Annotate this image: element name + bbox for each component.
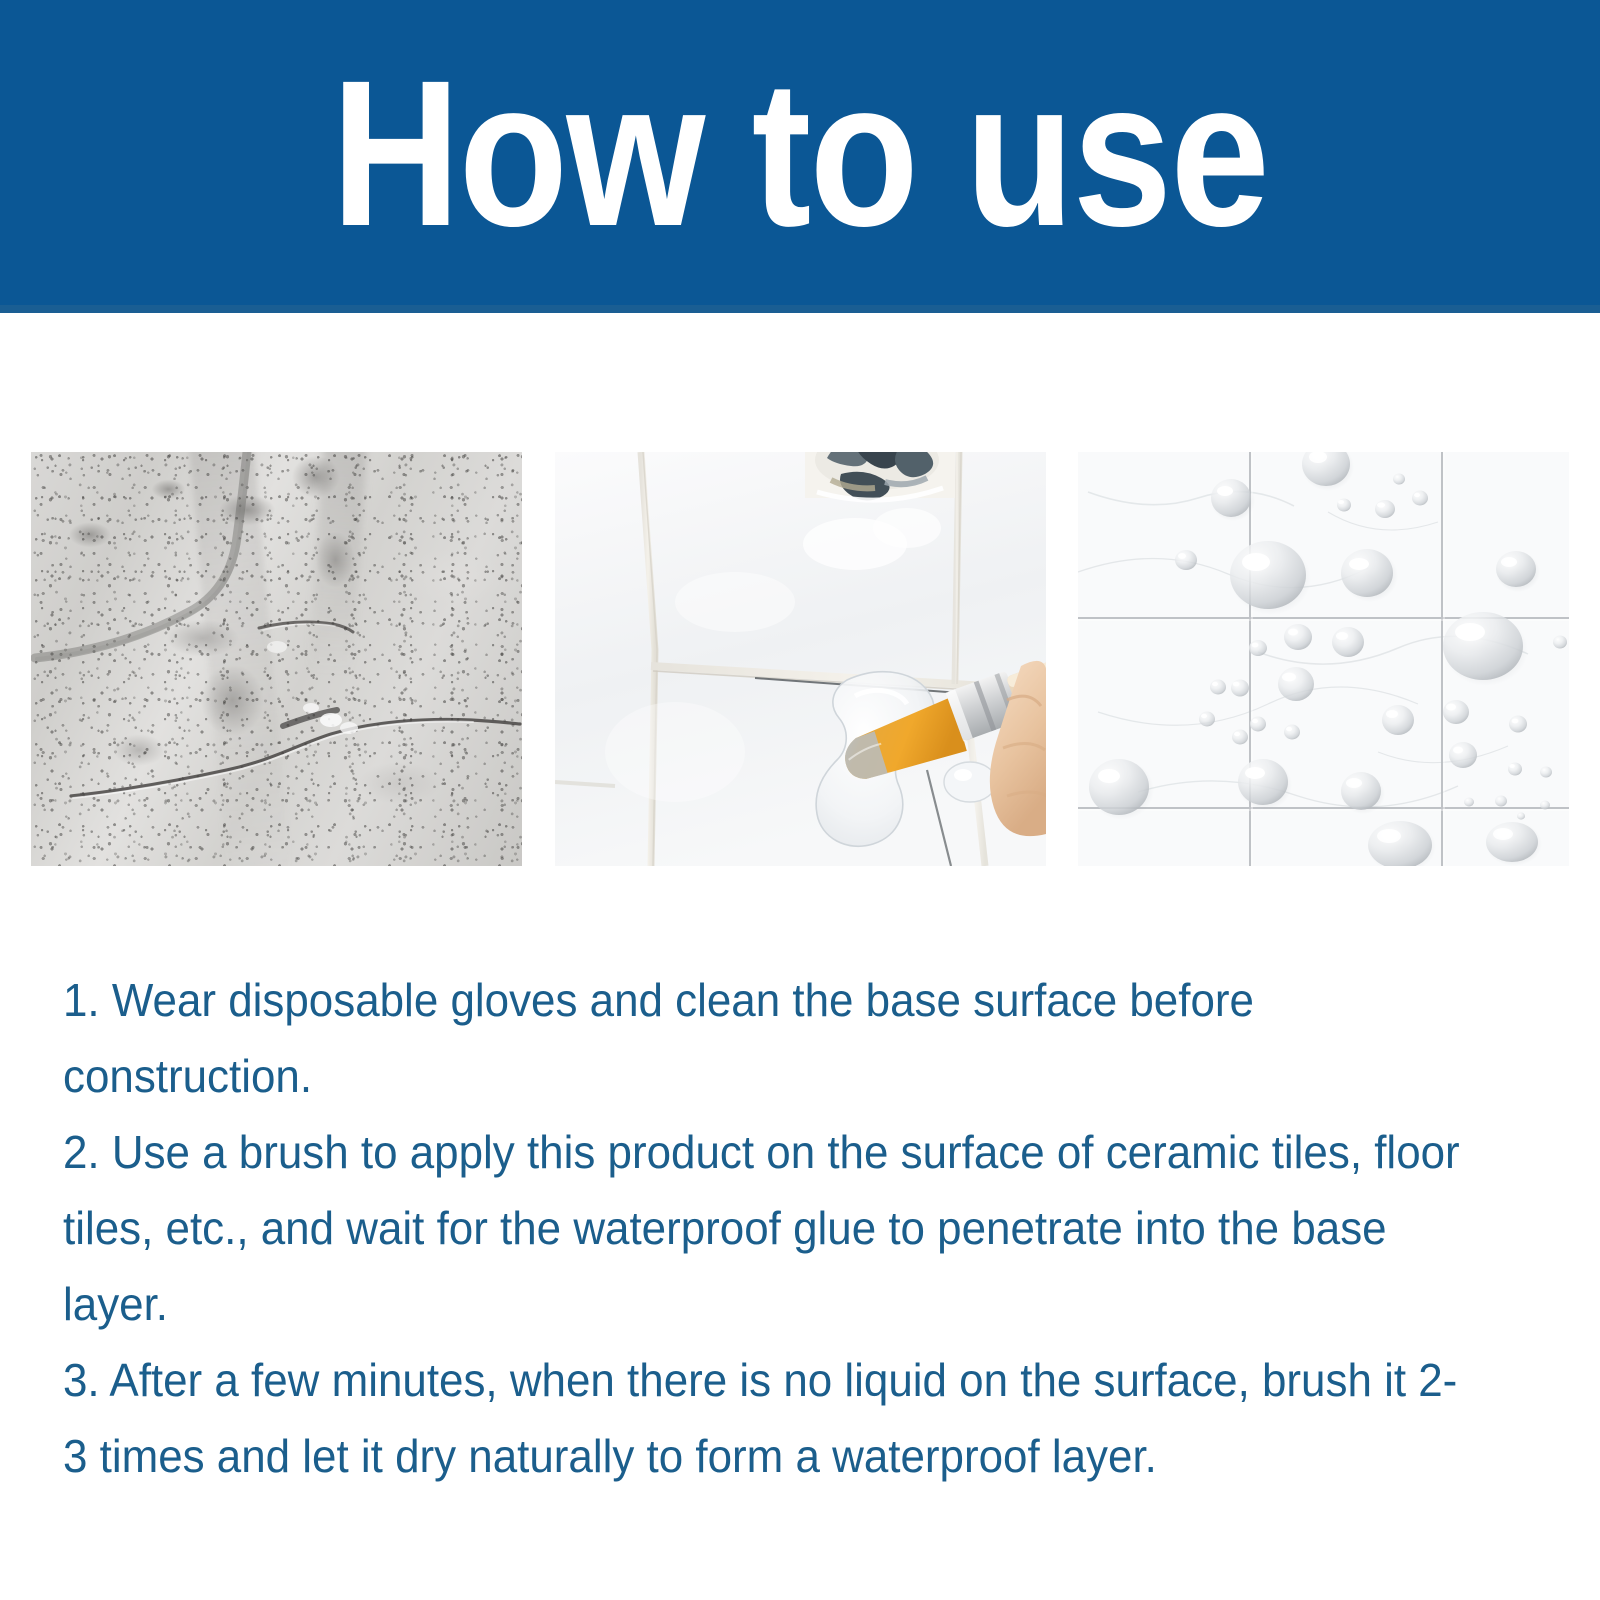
cracked-concrete-photo: [31, 452, 522, 866]
page-title: How to use: [332, 59, 1269, 250]
header-underline-divider: [0, 305, 1600, 313]
step-image-gallery: [31, 452, 1569, 866]
instruction-step-2: 2. Use a brush to apply this product on …: [63, 1114, 1476, 1342]
brush-application-photo: [555, 452, 1046, 866]
droplets-on-tile-svg: [1078, 452, 1569, 866]
instruction-step-3: 3. After a few minutes, when there is no…: [63, 1342, 1476, 1494]
water-beading-photo: [1078, 452, 1569, 866]
brush-scene-svg: [555, 452, 1046, 866]
how-to-use-infographic: How to use: [0, 0, 1600, 1600]
instructions-list: 1. Wear disposable gloves and clean the …: [63, 962, 1543, 1494]
crack-lines-svg: [31, 452, 522, 866]
concrete-crack-overlay: [31, 452, 522, 866]
header-banner: How to use: [0, 0, 1600, 305]
instruction-step-1: 1. Wear disposable gloves and clean the …: [63, 962, 1476, 1114]
